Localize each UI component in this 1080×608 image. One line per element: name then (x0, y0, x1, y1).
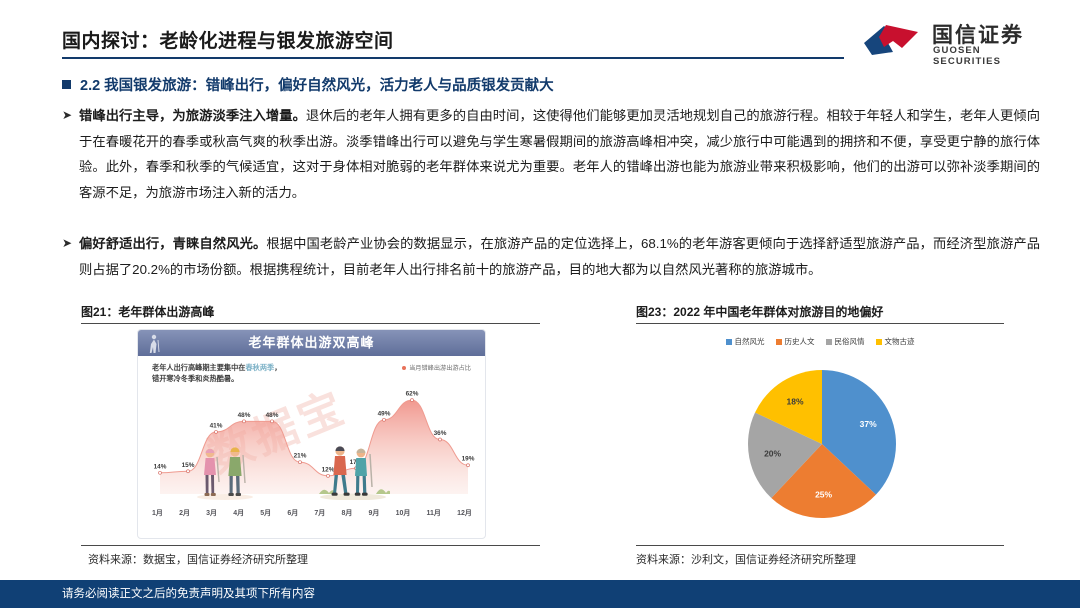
pie-chart-svg: 37%25%20%18% (744, 366, 900, 522)
svg-text:19%: 19% (462, 456, 475, 463)
infographic-x-axis: 1月2月3月4月5月6月7月8月9月10月11月12月 (152, 508, 472, 518)
body-bullet-2-lead: 偏好舒适出行，青睐自然风光。 (79, 236, 266, 251)
axis-tick-label: 11月 (427, 508, 441, 518)
header-divider (62, 57, 844, 59)
figure-right-bottom-rule (636, 545, 1004, 546)
infographic-title: 老年群体出游双高峰 (138, 330, 485, 356)
figure-right-caption: 图23：2022 年中国老年群体对旅游目的地偏好 (636, 303, 883, 320)
svg-text:15%: 15% (182, 462, 195, 469)
axis-tick-label: 8月 (341, 508, 352, 518)
arrow-bullet-icon: ➤ (62, 103, 79, 129)
figure-left-infographic: 老年群体出游双高峰 老年人出行高峰期主要集中在春秋两季， 错开寒冷冬季和炎热酷暑… (137, 329, 486, 539)
pie-chart-legend: 自然风光历史人文民俗风情文物古迹 (636, 336, 1004, 347)
axis-tick-label: 1月 (152, 508, 163, 518)
arrow-bullet-icon: ➤ (62, 231, 79, 257)
pie-legend-item: 历史人文 (776, 336, 815, 347)
legend-swatch-icon (776, 339, 782, 345)
infographic-legend-label: 当月错峰出游出游占比 (409, 363, 471, 372)
body-bullet-1-lead: 错峰出行主导，为旅游淡季注入增量。 (79, 108, 306, 123)
brand-logo: 国信证券 GUOSEN SECURITIES (862, 19, 1032, 61)
pie-legend-label: 文物古迹 (885, 336, 915, 347)
elderly-couple-illustration-a (194, 442, 256, 500)
pie-chart: 37%25%20%18% (744, 366, 900, 522)
svg-text:21%: 21% (294, 453, 307, 460)
dual-peak-area-chart: 14%15%41%48%48%21%12%17%49%62%36%19% (138, 374, 485, 500)
square-bullet-icon (62, 80, 71, 89)
pie-legend-item: 自然风光 (726, 336, 765, 347)
svg-text:14%: 14% (154, 463, 167, 470)
axis-tick-label: 6月 (287, 508, 298, 518)
axis-tick-label: 3月 (206, 508, 217, 518)
figure-left-caption: 图21：老年群体出游高峰 (81, 303, 214, 320)
figure-left-source: 资料来源：数据宝，国信证券经济研究所整理 (88, 551, 308, 567)
axis-tick-label: 9月 (369, 508, 380, 518)
legend-swatch-icon (876, 339, 882, 345)
body-bullet-2-text: 偏好舒适出行，青睐自然风光。根据中国老龄产业协会的数据显示，在旅游产品的定位选择… (79, 231, 1040, 282)
slide: 国内探讨：老龄化进程与银发旅游空间 国信证券 GUOSEN SECURITIES… (0, 0, 1080, 608)
axis-tick-label: 5月 (260, 508, 271, 518)
infographic-subtitle-post: ， (274, 363, 281, 372)
infographic-legend: 当月错峰出游出游占比 (402, 363, 471, 372)
elderly-couple-illustration-b (316, 442, 390, 500)
guosen-logo-icon (862, 21, 924, 57)
section-heading: 2.2 我国银发旅游：错峰出行，偏好自然风光，活力老人与品质银发贡献大 (62, 74, 554, 95)
infographic-subtitle-highlight: 春秋两季 (245, 363, 274, 372)
axis-tick-label: 10月 (396, 508, 411, 518)
pie-legend-label: 民俗风情 (835, 336, 865, 347)
svg-text:18%: 18% (787, 397, 804, 407)
logo-text-en: GUOSEN SECURITIES (933, 45, 1032, 67)
svg-text:48%: 48% (238, 412, 251, 419)
svg-text:48%: 48% (266, 412, 279, 419)
pie-legend-label: 历史人文 (785, 336, 815, 347)
page-title: 国内探讨：老龄化进程与银发旅游空间 (62, 26, 394, 53)
axis-tick-label: 12月 (457, 508, 472, 518)
pie-legend-label: 自然风光 (735, 336, 765, 347)
figure-right-source: 资料来源：沙利文，国信证券经济研究所整理 (636, 551, 856, 567)
svg-text:62%: 62% (406, 391, 419, 398)
figure-left-top-rule (81, 323, 540, 324)
legend-dot-icon (402, 366, 406, 370)
pie-legend-item: 文物古迹 (876, 336, 915, 347)
footer-text: 请务必阅读正文之后的免责声明及其项下所有内容 (62, 580, 315, 608)
svg-text:49%: 49% (378, 410, 391, 417)
body-bullet-1: ➤ 错峰出行主导，为旅游淡季注入增量。退休后的老年人拥有更多的自由时间，这使得他… (62, 103, 1040, 205)
legend-swatch-icon (826, 339, 832, 345)
axis-tick-label: 4月 (233, 508, 244, 518)
pie-legend-item: 民俗风情 (826, 336, 865, 347)
body-bullet-1-text: 错峰出行主导，为旅游淡季注入增量。退休后的老年人拥有更多的自由时间，这使得他们能… (79, 103, 1040, 205)
svg-text:41%: 41% (210, 422, 223, 429)
axis-tick-label: 7月 (314, 508, 325, 518)
body-bullet-2: ➤ 偏好舒适出行，青睐自然风光。根据中国老龄产业协会的数据显示，在旅游产品的定位… (62, 231, 1040, 282)
figure-left-bottom-rule (81, 545, 540, 546)
svg-text:36%: 36% (434, 430, 447, 437)
legend-swatch-icon (726, 339, 732, 345)
svg-text:20%: 20% (764, 448, 781, 458)
svg-text:25%: 25% (815, 489, 832, 499)
svg-text:37%: 37% (860, 419, 877, 429)
axis-tick-label: 2月 (179, 508, 190, 518)
section-heading-label: 2.2 我国银发旅游：错峰出行，偏好自然风光，活力老人与品质银发贡献大 (80, 74, 554, 95)
figure-right-top-rule (636, 323, 1004, 324)
infographic-subtitle-pre: 老年人出行高峰期主要集中在 (152, 363, 245, 372)
